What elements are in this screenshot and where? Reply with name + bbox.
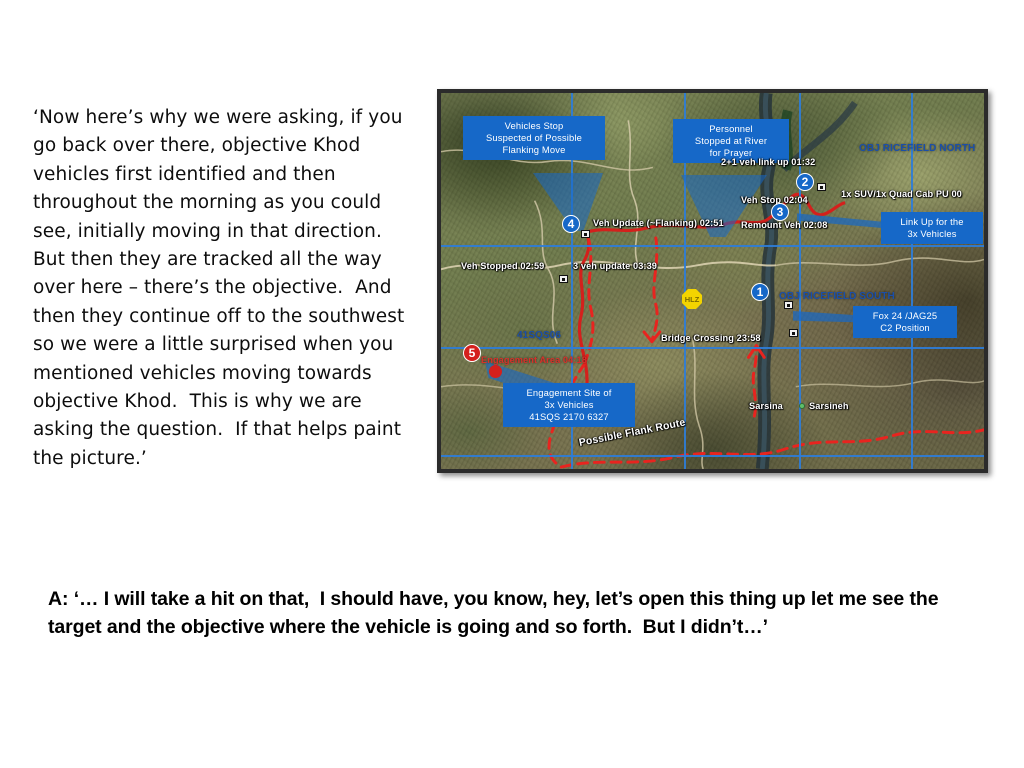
map-figure: Vehicles Stop Suspected of Possible Flan… (437, 89, 988, 473)
callout-link-up-text: Link Up for the 3x Vehicles (900, 216, 963, 239)
road-south-central (692, 338, 703, 469)
unit-symbol-veh-stopped (559, 275, 568, 283)
grid-line-horizontal-3 (441, 455, 984, 457)
label-sarsineh: Sarsineh (809, 401, 849, 411)
unit-symbol-4 (581, 230, 590, 238)
narrative-text: ‘Now here’s why we were asking, if you g… (33, 104, 423, 473)
label-obj-south: OBJ RICEFIELD SOUTH (779, 291, 895, 302)
callout-personnel-prayer-text: Personnel Stopped at River for Prayer (695, 123, 767, 158)
road-central-vertical (628, 120, 638, 265)
label-veh-update-flanking: Veh Update (~Flanking) 02:51 (593, 218, 724, 228)
label-obj-north: OBJ RICEFIELD NORTH (859, 143, 975, 154)
marker-5[interactable]: 5 (463, 344, 481, 362)
marker-5-label: 5 (469, 346, 476, 360)
label-remount-veh: Remount Veh 02:08 (741, 220, 827, 230)
marker-3[interactable]: 3 (771, 203, 789, 221)
route-red-dashed-central (652, 238, 657, 342)
marker-2-label: 2 (802, 175, 809, 189)
label-sarsina: Sarsina (749, 401, 783, 411)
callout-link-up: Link Up for the 3x Vehicles (881, 212, 983, 244)
marker-2[interactable]: 2 (796, 173, 814, 191)
callout-engagement-site: Engagement Site of 3x Vehicles 41SQS 217… (503, 383, 635, 427)
marker-4-label: 4 (568, 217, 575, 231)
road-east (776, 258, 984, 265)
unit-symbol-bridge (789, 329, 798, 337)
label-veh-update-3: 3 veh update 03:39 (573, 261, 657, 271)
grid-line-horizontal-2 (441, 347, 984, 349)
callout-vehicles-stop-text: Vehicles Stop Suspected of Possible Flan… (486, 120, 582, 155)
callout-engagement-site-text: Engagement Site of 3x Vehicles 41SQS 217… (526, 387, 611, 422)
grid-line-vertical-3 (799, 93, 801, 469)
marker-1[interactable]: 1 (751, 283, 769, 301)
hlz-label: HLZ (685, 295, 700, 304)
label-engagement-area: Engagement Area 04:18 (481, 355, 587, 365)
label-suv-quad-cab: 1x SUV/1x Quad Cab PU 00 (841, 189, 962, 199)
road-north-south-west (535, 201, 558, 344)
marker-3-label: 3 (777, 205, 784, 219)
callout-fox24-text: Fox 24 /JAG25 C2 Position (873, 310, 937, 333)
label-bridge-crossing: Bridge Crossing 23:58 (661, 333, 761, 343)
label-grid-41sqs06: 41SQS06 (517, 330, 561, 341)
hlz-marker: HLZ (682, 289, 702, 309)
label-veh-stopped: Veh Stopped 02:59 (461, 261, 544, 271)
callout-fox24: Fox 24 /JAG25 C2 Position (853, 306, 957, 338)
unit-symbol-1 (784, 301, 793, 309)
answer-text: A: ‘… I will take a hit on that, I shoul… (48, 585, 983, 642)
map-canvas: Vehicles Stop Suspected of Possible Flan… (441, 93, 984, 469)
unit-symbol-2 (817, 183, 826, 191)
callout-vehicles-stop: Vehicles Stop Suspected of Possible Flan… (463, 116, 605, 160)
engagement-point (489, 365, 502, 378)
label-link-up-0132: 2+1 veh link up 01:32 (721, 157, 815, 167)
town-dot-sarsineh (799, 403, 805, 409)
grid-line-horizontal-1 (441, 245, 984, 247)
marker-4[interactable]: 4 (562, 215, 580, 233)
marker-1-label: 1 (757, 285, 764, 299)
road-southeast (796, 380, 984, 387)
